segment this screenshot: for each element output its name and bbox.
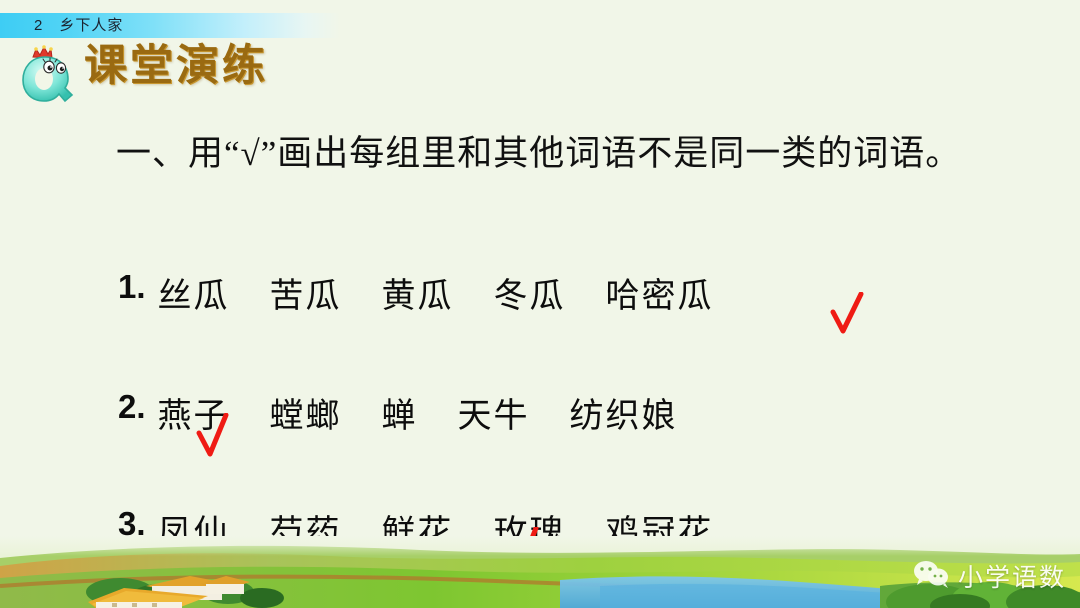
question-items: 燕子螳螂蝉天牛纺织娘	[158, 388, 678, 437]
word-option[interactable]: 蝉	[382, 388, 418, 437]
instruction-text: 一、用“√”画出每组里和其他词语不是同一类的词语。	[46, 128, 1046, 179]
slide-canvas: 2 乡下人家	[0, 0, 1080, 608]
q-mascot-icon	[17, 44, 79, 106]
word-option[interactable]: 苦瓜	[270, 268, 342, 317]
word-option[interactable]: 黄瓜	[382, 268, 454, 317]
word-option[interactable]: 燕子	[158, 388, 230, 437]
word-option[interactable]: 哈密瓜	[606, 268, 714, 317]
question-number: 1.	[118, 268, 146, 306]
watermark-label: 小学语数	[958, 558, 1066, 594]
question-number: 2.	[118, 388, 146, 426]
watermark: 小学语数	[912, 558, 1066, 594]
word-option[interactable]: 纺织娘	[570, 388, 678, 437]
word-option[interactable]: 冬瓜	[494, 268, 566, 317]
page-title: 课堂演练	[84, 45, 268, 88]
check-mark	[830, 292, 864, 338]
word-option[interactable]: 丝瓜	[158, 268, 230, 317]
lesson-bar-title: 2 乡下人家	[34, 14, 123, 35]
word-option[interactable]: 螳螂	[270, 388, 342, 437]
question-row: 1.丝瓜苦瓜黄瓜冬瓜哈密瓜	[118, 268, 1058, 320]
question-items: 丝瓜苦瓜黄瓜冬瓜哈密瓜	[158, 268, 714, 317]
question-row: 2.燕子螳螂蝉天牛纺织娘	[118, 388, 1058, 440]
wechat-icon	[912, 560, 950, 593]
word-option[interactable]: 天牛	[458, 388, 530, 437]
